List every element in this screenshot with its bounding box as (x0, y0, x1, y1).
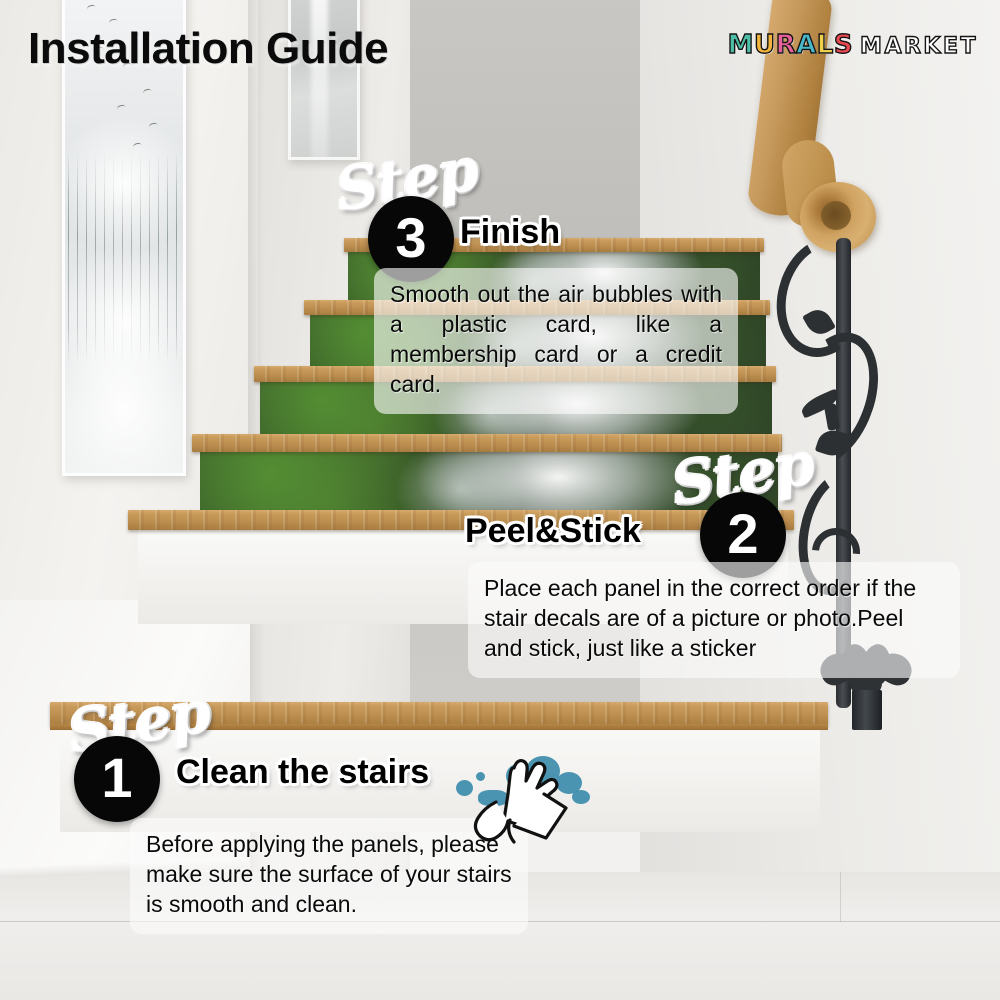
page-title: Installation Guide (28, 24, 388, 74)
logo-letter-u: U (754, 30, 776, 60)
logo-word-market: MARKET (860, 34, 978, 59)
floor-grout-line-2 (840, 872, 841, 922)
installation-guide-page: Installation Guide MURALSMARKET Step 3 F… (0, 0, 1000, 1000)
cleaning-hand-icon (452, 750, 592, 850)
step-3-number: 3 (395, 210, 426, 266)
step-2-number: 2 (727, 506, 758, 562)
step-1-heading: Clean the stairs (176, 753, 429, 792)
step-2-body: Place each panel in the correct order if… (468, 562, 960, 678)
logo-letter-a: A (796, 30, 817, 60)
logo-letter-m: M (728, 30, 754, 60)
step-3-heading: Finish (460, 213, 560, 252)
step-3-body: Smooth out the air bubbles with a plasti… (374, 268, 738, 414)
step-1-number-badge: 1 (74, 736, 160, 822)
step-1-number: 1 (101, 750, 132, 806)
brand-logo[interactable]: MURALSMARKET (728, 32, 978, 58)
iron-newel-foot (852, 690, 882, 730)
logo-letter-s: S (834, 30, 853, 60)
logo-letter-r: R (776, 30, 797, 60)
logo-letter-l: L (817, 30, 834, 60)
step-2-heading: Peel&Stick (465, 512, 641, 551)
hand-with-cloth-glyph (452, 750, 592, 850)
